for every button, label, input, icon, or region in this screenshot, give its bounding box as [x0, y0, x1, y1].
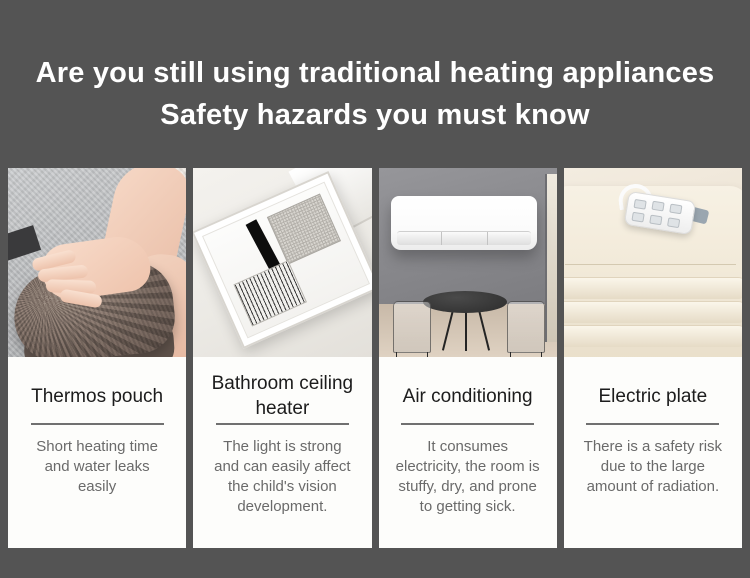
page-title: Are you still using traditional heating … [0, 52, 750, 136]
card-body: Electric plate There is a safety risk du… [564, 357, 742, 548]
card-description: It consumes electricity, the room is stu… [389, 437, 547, 517]
card-divider [401, 423, 534, 425]
card-title: Thermos pouch [31, 371, 163, 421]
card-description: There is a safety risk due to the large … [574, 437, 732, 497]
card-body: Bathroom ceiling heater The light is str… [193, 357, 371, 548]
promo-banner: Are you still using traditional heating … [0, 0, 750, 578]
card-body: Air conditioning It consumes electricity… [379, 357, 557, 548]
electric-blanket-photo [564, 168, 742, 357]
card-title: Bathroom ceiling heater [203, 371, 361, 421]
card-description: Short heating time and water leaks easil… [18, 437, 176, 497]
appliance-card[interactable]: Thermos pouch Short heating time and wat… [8, 168, 186, 548]
card-divider [216, 423, 349, 425]
appliance-card[interactable]: Air conditioning It consumes electricity… [379, 168, 557, 548]
bathroom-ceiling-heater-photo [193, 168, 371, 357]
appliance-card[interactable]: Electric plate There is a safety risk du… [564, 168, 742, 548]
card-title: Air conditioning [403, 371, 533, 421]
card-title: Electric plate [598, 371, 707, 421]
card-body: Thermos pouch Short heating time and wat… [8, 357, 186, 548]
card-description: The light is strong and can easily affec… [203, 437, 361, 517]
headline-line-2: Safety hazards you must know [0, 94, 750, 136]
card-divider [586, 423, 719, 425]
appliance-card-row: Thermos pouch Short heating time and wat… [8, 168, 742, 548]
thermos-pouch-photo [8, 168, 186, 357]
headline-line-1: Are you still using traditional heating … [0, 52, 750, 94]
appliance-card[interactable]: Bathroom ceiling heater The light is str… [193, 168, 371, 548]
air-conditioner-photo [379, 168, 557, 357]
card-divider [31, 423, 164, 425]
